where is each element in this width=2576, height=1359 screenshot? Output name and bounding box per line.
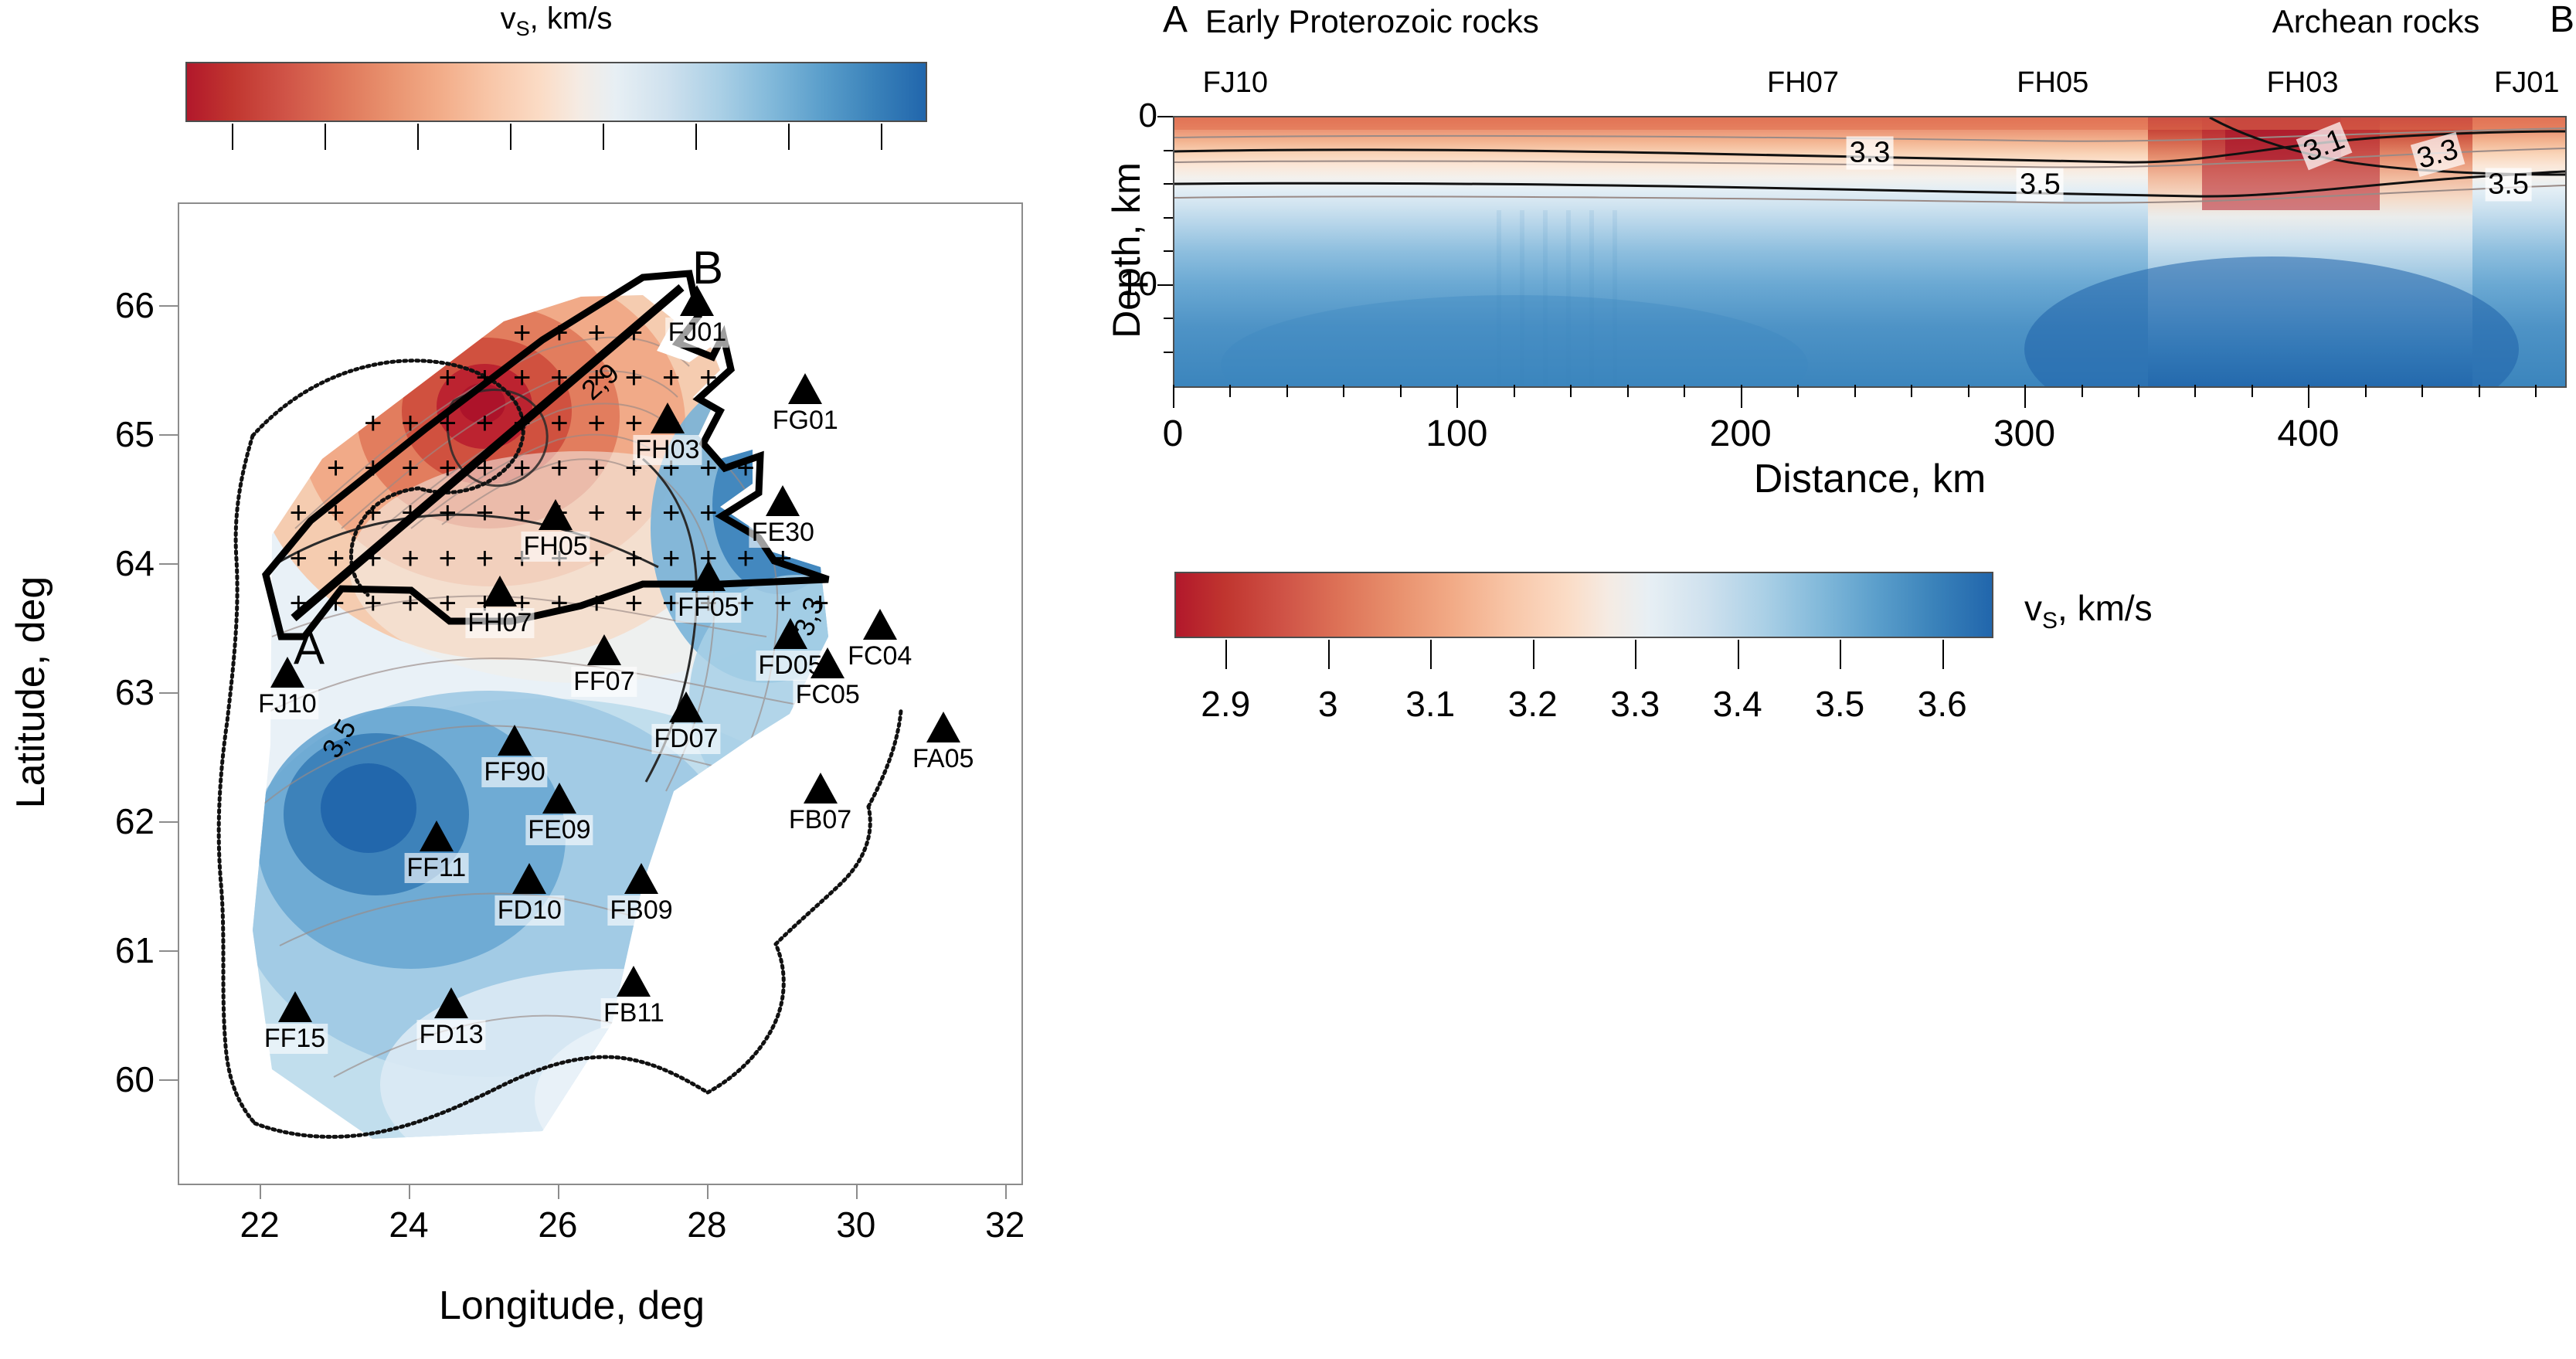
right-colorbar-tick-label: 3.1 [1405,683,1455,725]
right-colorbar-tick [1328,640,1330,669]
map-y-tick-mark [159,305,178,307]
grid-node-plus-icon: + [587,453,605,484]
grid-node-plus-icon: + [364,588,382,619]
cross-section-x-tick-minor [1343,385,1344,397]
grid-node-plus-icon: + [587,543,605,574]
cross-section-x-tick-minor [2194,385,2196,397]
grid-node-plus-icon: + [550,408,568,439]
cross-section-station-label-fj10: FJ10 [1203,66,1268,100]
left-colorbar-tick [788,124,790,150]
station-label: FF11 [404,853,468,883]
grid-node-plus-icon: + [662,362,680,393]
cross-section-x-tick-minor [1968,385,1969,397]
cross-section-endpoint-a-label: A [1163,0,1188,41]
grid-node-plus-icon: + [625,318,643,348]
grid-node-plus-icon: + [662,498,680,528]
left-colorbar-title: vS, km/s [501,2,613,41]
right-colorbar-tick-label: 2.9 [1201,683,1250,725]
station-triangle-icon [542,783,576,814]
left-colorbar-title-units: , km/s [530,2,613,36]
right-colorbar-title-units: , km/s [2058,588,2153,628]
cross-section-plot-area: 3.33.53.13.33.5 [1173,116,2567,388]
grid-node-plus-icon: + [439,498,457,528]
grid-node-plus-icon: + [439,543,457,574]
grid-node-plus-icon: + [513,453,531,484]
archean-unit-label: Archean rocks [2272,3,2479,40]
cross-section-x-tick [1173,385,1174,408]
map-y-tick-label: 65 [54,413,155,455]
station-triangle-icon [420,820,454,851]
cross-section-x-tick-minor [1229,385,1231,397]
station-triangle-icon [692,560,726,591]
map-y-tick-mark [159,434,178,436]
grid-node-plus-icon: + [401,453,419,484]
station-label: FB07 [787,805,854,835]
station-triangle-icon [539,499,573,530]
grid-node-plus-icon: + [476,408,494,439]
map-y-tick-mark [159,821,178,823]
station-label: FE30 [749,518,817,548]
station-label: FH07 [465,608,534,638]
right-colorbar-tick [1738,640,1739,669]
cross-section-x-tick [2024,385,2026,408]
grid-node-plus-icon: + [364,543,382,574]
grid-node-plus-icon: + [364,453,382,484]
cross-section-station-label-fh03: FH03 [2267,66,2339,100]
early-proterozoic-unit-label: Early Proterozoic rocks [1205,3,1539,40]
map-x-tick-label: 26 [538,1204,577,1245]
cross-section-x-tick-minor [2365,385,2367,397]
cross-section-y-tick-minor [1164,318,1173,319]
profile-endpoint-b-label: B [692,241,723,294]
station-label: FD07 [651,724,720,754]
left-colorbar-tick [695,124,697,150]
grid-node-plus-icon: + [774,543,792,574]
left-colorbar-title-subscript: S [516,17,530,40]
profile-endpoint-a-label: A [294,621,325,674]
grid-node-plus-icon: + [439,453,457,484]
station-triangle-icon [926,712,960,742]
cross-section-contour-label: 3.5 [2485,168,2532,202]
cross-section-x-tick-label: 200 [1710,413,1772,455]
cross-section-station-label-fj01: FJ01 [2494,66,2559,100]
grid-node-plus-icon: + [587,588,605,619]
cross-section-x-tick-minor [2479,385,2480,397]
cross-section-x-tick [1456,385,1458,408]
right-colorbar-tick [1430,640,1432,669]
map-y-tick-mark [159,563,178,565]
station-label: FG01 [770,406,841,436]
station-label: FB11 [601,998,667,1028]
cross-section-x-tick-minor [2535,385,2537,397]
station-triangle-icon [512,863,546,894]
grid-node-plus-icon: + [327,588,345,619]
map-y-tick-mark [159,1079,178,1081]
grid-node-plus-icon: + [513,498,531,528]
station-label: FE09 [525,815,593,845]
cross-section-x-tick-label: 400 [2277,413,2339,455]
map-x-tick-label: 32 [985,1204,1025,1245]
right-colorbar-tick-label: 3.4 [1713,683,1762,725]
station-triangle-icon [624,863,658,894]
grid-node-plus-icon: + [513,318,531,348]
left-colorbar-gradient [185,62,927,122]
right-colorbar-tick [1533,640,1534,669]
station-label: FF15 [262,1024,328,1054]
cross-section-x-tick-minor [1684,385,1685,397]
cross-section-x-tick-minor [1400,385,1402,397]
cross-section-y-tick-minor [1164,183,1173,185]
left-colorbar-tick [510,124,511,150]
map-y-tick-label: 60 [54,1058,155,1100]
map-y-tick-label: 63 [54,671,155,713]
grid-node-plus-icon: + [290,588,308,619]
grid-node-plus-icon: + [774,588,792,619]
station-label: FF05 [675,593,741,623]
map-y-tick-mark [159,950,178,952]
left-colorbar: 2,933,13,23,33,43,53,6 [185,62,927,122]
cross-section-y-tick-minor [1164,217,1173,219]
station-triangle-icon [278,991,312,1022]
cross-section-station-label-fh05: FH05 [2017,66,2088,100]
cross-section-x-tick-minor [2138,385,2139,397]
grid-node-plus-icon: + [364,408,382,439]
grid-node-plus-icon: + [439,588,457,619]
station-label: FA05 [910,744,976,774]
grid-node-plus-icon: + [699,453,717,484]
grid-node-plus-icon: + [327,498,345,528]
map-y-tick-label: 66 [54,284,155,326]
map-x-axis-label: Longitude, deg [439,1283,705,1329]
station-label: FF90 [481,757,547,787]
grid-node-plus-icon: + [662,543,680,574]
cross-section-x-tick-label: 300 [1993,413,2055,455]
station-triangle-icon [651,403,685,433]
grid-node-plus-icon: + [327,543,345,574]
grid-node-plus-icon: + [476,453,494,484]
grid-node-plus-icon: + [476,362,494,393]
map-y-tick-label: 62 [54,800,155,842]
grid-node-plus-icon: + [476,543,494,574]
cross-section-x-tick-minor [1286,385,1288,397]
right-colorbar-title-subscript: S [2042,608,2058,634]
grid-node-plus-icon: + [625,408,643,439]
station-triangle-icon [498,725,532,756]
station-triangle-icon [669,691,703,722]
station-triangle-icon [863,609,897,640]
station-triangle-icon [788,373,822,404]
grid-node-plus-icon: + [290,543,308,574]
right-colorbar-tick [1840,640,1841,669]
cross-section-endpoint-b-label: B [2550,0,2574,41]
grid-node-plus-icon: + [625,588,643,619]
grid-node-plus-icon: + [699,362,717,393]
right-colorbar-title: vS, km/s [2024,587,2153,634]
cross-section-x-tick-minor [1911,385,1912,397]
cross-section-x-tick-minor [2082,385,2083,397]
grid-node-plus-icon: + [550,318,568,348]
map-y-tick-mark [159,692,178,694]
cross-section-x-tick-minor [1854,385,1856,397]
station-label: FH05 [522,532,590,562]
map-panel: vS, km/s 2,933,13,23,33,43,53,6 Latitude… [0,0,1097,1359]
right-colorbar-tick-label: 3.5 [1815,683,1864,725]
right-colorbar-tick [1225,640,1227,669]
grid-node-plus-icon: + [736,453,754,484]
station-label: FJ10 [256,689,319,719]
right-colorbar-tick-label: 3.2 [1508,683,1558,725]
grid-node-plus-icon: + [401,408,419,439]
cross-section-y-tick [1157,116,1173,117]
cross-section-x-tick [1741,385,1742,408]
station-label: FJ01 [666,318,729,348]
grid-node-plus-icon: + [513,362,531,393]
cross-section-x-tick-minor [2421,385,2423,397]
station-triangle-icon [587,634,621,665]
grid-node-plus-icon: + [587,408,605,439]
map-x-tick-label: 30 [836,1204,875,1245]
grid-node-plus-icon: + [550,588,568,619]
grid-node-plus-icon: + [550,453,568,484]
grid-node-plus-icon: + [587,318,605,348]
map-y-tick-label: 61 [54,929,155,971]
cross-section-x-tick-minor [1570,385,1572,397]
map-plot-area: ++++++++++++++++++++++++++++++++++++++++… [178,202,1023,1185]
left-colorbar-tick [325,124,326,150]
cross-section-x-tick-minor [1627,385,1629,397]
cross-section-y-axis-label: Depth, km [1104,162,1149,338]
grid-node-plus-icon: + [439,408,457,439]
station-label: FD10 [495,895,564,926]
right-colorbar-tick-label: 3.3 [1610,683,1660,725]
right-colorbar-tick [1942,640,1944,669]
cross-section-x-tick [2308,385,2309,408]
station-label: FB09 [607,895,675,926]
cross-section-y-tick-minor [1164,150,1173,151]
grid-node-plus-icon: + [364,498,382,528]
grid-node-plus-icon: + [401,543,419,574]
station-triangle-icon [434,987,468,1018]
map-x-tick-label: 24 [389,1204,428,1245]
map-y-tick-label: 64 [54,542,155,584]
station-triangle-icon [483,576,517,606]
station-triangle-icon [766,485,800,516]
grid-node-plus-icon: + [513,408,531,439]
right-colorbar-gradient [1174,572,1993,638]
grid-node-plus-icon: + [401,588,419,619]
grid-node-plus-icon: + [736,543,754,574]
right-colorbar-tick-label: 3.6 [1918,683,1967,725]
left-colorbar-title-symbol: v [501,2,516,36]
map-x-tick-label: 28 [687,1204,726,1245]
grid-node-plus-icon: + [699,498,717,528]
left-colorbar-tick [417,124,419,150]
station-label: FD13 [417,1020,486,1050]
cross-section-y-tick-minor [1164,250,1173,252]
grid-node-plus-icon: + [625,362,643,393]
cross-section-x-tick-label: 100 [1426,413,1487,455]
grid-node-plus-icon: + [290,498,308,528]
station-triangle-icon [804,773,838,804]
right-colorbar-tick [1635,640,1636,669]
cross-section-y-tick-minor [1164,352,1173,353]
grid-node-plus-icon: + [476,498,494,528]
cross-section-y-tick-label: 0 [1072,97,1157,135]
cross-section-x-tick-minor [1797,385,1799,397]
cross-section-station-label-fh07: FH07 [1767,66,1839,100]
station-label: FH03 [633,435,702,465]
map-y-axis-label: Latitude, deg [8,576,54,809]
map-x-tick-label: 22 [240,1204,280,1245]
cross-section-panel: A Early Proterozoic rocks Archean rocks … [1097,0,2576,1359]
left-colorbar-tick [881,124,882,150]
grid-node-plus-icon: + [327,453,345,484]
station-triangle-icon [811,647,845,678]
station-label: FC05 [794,680,862,710]
grid-node-plus-icon: + [625,543,643,574]
cross-section-contour-label: 3.3 [1847,136,1894,169]
station-triangle-icon [617,966,651,997]
right-colorbar-tick-label: 3 [1318,683,1338,725]
grid-node-plus-icon: + [439,362,457,393]
cross-section-contour-label: 3.5 [2017,168,2064,202]
grid-node-plus-icon: + [401,498,419,528]
station-label: FC04 [845,641,914,671]
cross-section-x-tick-minor [2251,385,2253,397]
cross-section-x-axis-label: Distance, km [1754,456,1986,502]
left-colorbar-tick [232,124,233,150]
left-colorbar-tick [603,124,604,150]
grid-node-plus-icon: + [550,362,568,393]
right-colorbar-title-symbol: v [2024,588,2042,628]
cross-section-x-tick-label: 0 [1163,413,1184,455]
right-colorbar: 2.933.13.23.33.43.53.6 [1174,572,1993,638]
grid-node-plus-icon: + [587,498,605,528]
station-label: FF07 [571,667,637,697]
cross-section-x-tick-minor [1514,385,1515,397]
grid-node-plus-icon: + [625,498,643,528]
cross-section-y-tick [1157,284,1173,286]
